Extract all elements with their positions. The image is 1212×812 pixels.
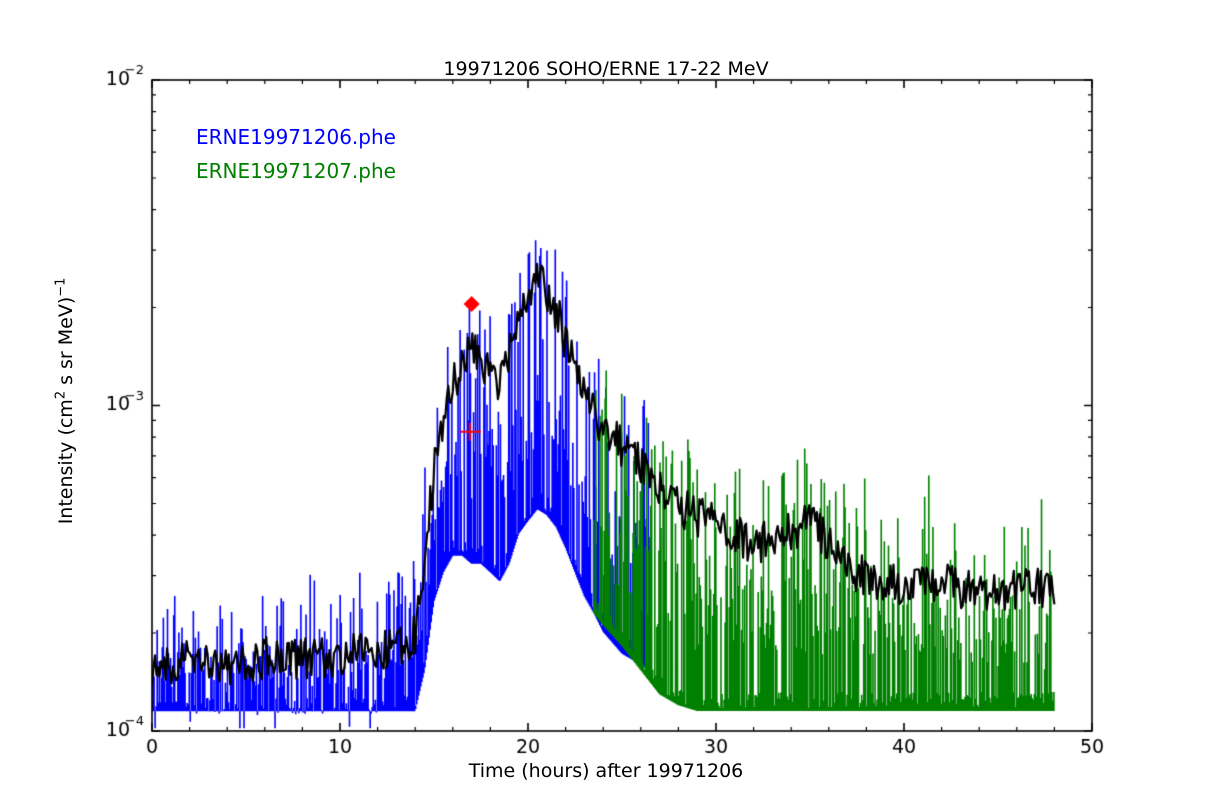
legend-entry-series-1: ERNE19971207.phe bbox=[196, 159, 396, 183]
x-axis-label: Time (hours) after 19971206 bbox=[0, 760, 1212, 782]
legend-entry-series-0: ERNE19971206.phe bbox=[196, 125, 396, 149]
y-axis-label-pre: Intensity (cm bbox=[55, 399, 77, 524]
y-axis-label-exponent-minus1: −1 bbox=[54, 278, 69, 297]
y-axis-label-exponent-2: 2 bbox=[54, 391, 69, 399]
y-axis-label-mid: s sr MeV) bbox=[55, 297, 77, 391]
chart-title: 19971206 SOHO/ERNE 17-22 MeV bbox=[0, 58, 1212, 80]
plot-canvas bbox=[0, 0, 1212, 812]
y-axis-label: Intensity (cm2 s sr MeV)−1 bbox=[55, 231, 77, 571]
chart-figure: 19971206 SOHO/ERNE 17-22 MeV Time (hours… bbox=[0, 0, 1212, 812]
